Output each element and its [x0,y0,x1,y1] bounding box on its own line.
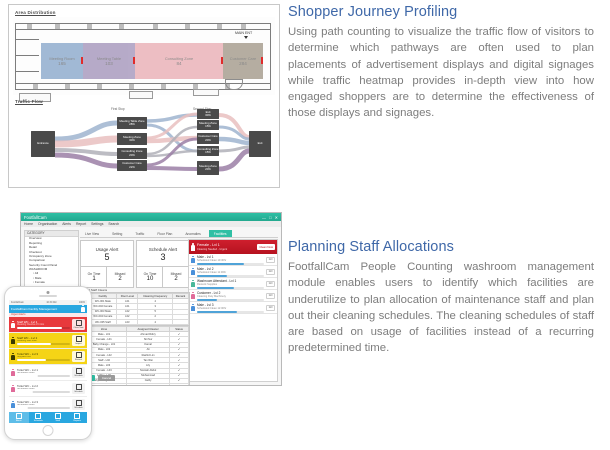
sankey-col-header-1: First Stop [111,107,125,111]
female-icon [11,321,15,329]
alert-sub: Scheduled Clean 12:00hr [197,307,264,310]
alert-progress [197,287,264,289]
kpi-schedule-missed: Missed 2 [162,266,190,288]
window-title: FootfallCam [24,215,47,220]
door-symbol [161,84,166,90]
main-entrance-label: MAIN ENT [235,31,252,35]
alert-progress [197,299,264,301]
female-icon [191,292,195,300]
phone-screen: FootfallCam 10:30 AM 100% FootfallCam Fa… [9,300,87,423]
sankey-node-pct: 15% [205,125,211,128]
male-icon [11,337,15,345]
door-symbol [55,24,60,30]
phone-row-sub: Cleaning Overdue 15 mins [17,324,70,326]
phone-row-0[interactable]: Staff WC - Lvl 1 Cleaning Overdue 15 min… [9,317,87,333]
calendar-icon [35,413,41,419]
wall-line [15,39,39,40]
sankey-node-s1-0[interactable]: Meeting Table Zone 28% [117,117,147,129]
alert-row-2[interactable]: Washroom Attendant - Lvl 1 Restock Suppl… [189,278,277,290]
phone-row-sub: Scheduled Clean [17,404,70,406]
alert-row-4[interactable]: Male - Lvl 3 Scheduled Clean 12:00hr GO [189,302,277,314]
sankey-node-entrance: Entrance [31,131,55,157]
phone-row-sub: Cleaning Due Soon [17,340,70,342]
phone-alert-list: Staff WC - Lvl 1 Cleaning Overdue 15 min… [9,317,87,413]
zone-1[interactable]: Meeting Table 103 [83,43,135,79]
door-symbol [185,24,190,30]
phone-row-action[interactable]: Clean Now [72,319,85,330]
phone-row-action[interactable]: Schedule [72,367,85,378]
male-icon [11,353,15,361]
female-icon [11,385,15,393]
cell-4-4 [173,319,189,324]
kpi-value: 5 [104,252,109,262]
speaker-grill [39,295,57,297]
bell-icon [16,413,22,419]
kpi-schedule-ontime: On Time 10 [136,266,164,288]
alert-action-button[interactable]: GO [266,305,275,311]
menu-item-3[interactable]: Report [76,222,86,226]
action-icon [76,384,82,390]
legend-box [129,91,153,99]
alert-progress [197,263,264,265]
male-icon [191,268,195,276]
cell-4-2: L03 [117,319,138,324]
zone-count: 284 [239,61,247,66]
alert-action-button[interactable]: GO [266,293,275,299]
tab-1[interactable]: Setting [107,230,127,237]
section-shopper-journey: Shopper Journey Profiling Using path cou… [288,3,594,122]
kpi-sub-value: 2 [118,276,121,283]
phone-row-5[interactable]: Toilet WC - Lvl 3 Scheduled Clean Schedu… [9,397,87,413]
sankey-node-exit: Exit [249,131,271,157]
female-icon [11,369,15,377]
phone-row-progress [17,327,70,329]
sankey-diagram: First Stop Second Stop Entrance Exit Mee… [13,105,275,183]
phone-row-progress [17,391,70,393]
phone-row-progress [17,407,70,409]
alert-progress [197,311,264,313]
status-carrier: FootfallCam [11,301,24,304]
sankey-node-s1-1[interactable]: Meeting Zone 30% [117,133,147,145]
people-icon [55,413,61,419]
table-usage[interactable]: IDFacilityFloor LevelCleaning FrequencyR… [80,292,190,326]
zone-2[interactable]: Consulting Zone 84 [135,43,223,79]
tab-5[interactable]: Facilities [209,230,232,237]
action-icon [76,352,82,358]
zone-0[interactable]: Meeting Room 165 [41,43,83,79]
kpi-sub-value: 1 [92,276,95,283]
menu-item-2[interactable]: Alerts [62,222,71,226]
traffic-flow-caption: Traffic Flow [15,99,43,104]
phone-mockup: FootfallCam 10:30 AM 100% FootfallCam Fa… [4,286,92,440]
phone-app-title: FootfallCam Facility Management [11,307,79,311]
female-icon [191,243,195,251]
cell-4-3: 4 [138,319,173,324]
sankey-node-s1-3[interactable]: Customer Care 22% [117,160,147,171]
male-icon [191,304,195,312]
camera-icon [47,291,50,294]
door-symbol [129,84,134,90]
door-symbol [27,24,32,30]
phone-row-2[interactable]: Toilet WC - Lvl 3 Supplies Low Restock [9,349,87,365]
alert-sub: Restock Supplies [197,283,264,286]
zone-count: 84 [176,61,181,66]
action-icon [76,320,82,326]
kpi-usage-ontime: On Time 1 [80,266,108,288]
phone-nav-0[interactable]: Alerts [9,412,29,423]
alert-sub: Scheduled Clean 11:00hr [197,271,264,274]
sankey-node-s2-1[interactable]: Meeting Zone 15% [197,120,219,130]
menu-item-5[interactable]: Search [108,222,119,226]
phone-row-action[interactable]: Inspect [72,335,85,346]
alert-panel-header: Female - Lvl 1 Cleaning Needed - Urgent … [189,240,277,254]
sankey-node-pct: 22% [129,166,135,169]
action-icon [76,336,82,342]
sankey-node-pct: 30% [205,114,211,117]
door-symbol [217,24,222,30]
tab-3[interactable]: Floor Plan [152,230,177,237]
male-icon [191,256,195,264]
phone-row-1[interactable]: Staff WC - Lvl 2 Cleaning Due Soon Inspe… [9,333,87,349]
window-controls[interactable]: — □ ✕ [262,215,279,220]
alert-row-1[interactable]: Male - Lvl 2 Scheduled Clean 11:00hr GO [189,266,277,278]
phone-row-progress [17,343,70,345]
sankey-node-s1-2[interactable]: Consulting Zone 20% [117,148,147,159]
menu-item-0[interactable]: Home [24,222,33,226]
phone-nav-1[interactable]: Schedule [29,412,49,423]
tab-2[interactable]: Traffic [130,230,149,237]
menu-item-1[interactable]: Organisation [38,222,57,226]
section-title: Planning Staff Allocations [288,238,594,256]
sankey-node-pct: 30% [129,139,135,142]
door-symbol [87,24,92,30]
phone-row-3[interactable]: Toilet WC - Lvl 1 Scheduled Clean Schedu… [9,365,87,381]
zone-3[interactable]: Customer Care 284 [223,43,263,79]
sankey-node-s2-4[interactable]: Meeting Zone 20% [197,161,219,175]
section-body: Using path counting to visualize the tra… [288,24,594,122]
kpi-usage-alert: Usage Alert 5 [80,240,134,268]
slide-root: Area Distribution [0,0,610,450]
phone-row-progress [17,375,70,377]
phone-appbar: FootfallCam Facility Management [9,305,87,313]
sankey-node-s2-0[interactable]: Exit 30% [197,109,219,119]
phone-row-action[interactable]: Restock [72,351,85,362]
phone-nav-3[interactable]: Reports [68,412,88,423]
tab-0[interactable]: Live View [80,230,104,237]
door-symbol [153,24,158,30]
tab-4[interactable]: Anomalies [180,230,205,237]
clean-now-button[interactable]: Clean Now [257,244,275,250]
phone-row-sub: Scheduled Clean [17,372,70,374]
door-symbol [241,24,246,30]
staff-icon [191,280,195,288]
zone-count: 165 [58,61,66,66]
home-button[interactable] [43,425,54,436]
kpi-schedule-alert: Schedule Alert 3 [136,240,190,268]
status-battery: 100% [79,301,85,304]
alert-panel: Female - Lvl 1 Cleaning Needed - Urgent … [188,239,278,382]
phone-top-bezel [5,287,91,300]
phone-nav-label: Reports [73,420,81,422]
phone-row-action[interactable]: Schedule [72,383,85,394]
wall-line [15,23,271,24]
section-planning-staff: Planning Staff Allocations FootfallCam P… [288,238,594,357]
section-title: Shopper Journey Profiling [288,3,594,21]
entrance-arrow-icon [244,36,248,39]
alert-row-3[interactable]: Customer - Lvl 2 Cleaning Duty Machinery… [189,290,277,302]
alert-row-0[interactable]: Male - Lvl 1 Scheduled Clean 10:30hr GO [189,254,277,266]
alert-action-button[interactable]: GO [266,281,275,287]
user-icon[interactable] [81,305,85,313]
kpi-sub-value: 10 [147,276,154,283]
floorplan-canvas: Meeting Room 165 Meeting Table 103 Consu… [13,17,275,95]
table-row[interactable]: Accessible - Lvl 1Hassan✔ [82,384,189,386]
phone-nav-2[interactable]: Staff [48,412,68,423]
zone-count: 103 [105,61,113,66]
cell-10-2: ✔ [170,384,189,386]
area-distribution-caption: Area Distribution [15,10,56,15]
kpi-sub-value: 2 [174,276,177,283]
sankey-node-pct: 28% [129,123,135,126]
alert-progress [197,275,264,277]
action-icon [76,400,82,406]
door-symbol [97,84,102,90]
sankey-node-pct: 20% [205,139,211,142]
phone-bottom-nav[interactable]: Alerts Schedule Staff Reports [9,412,87,423]
kpi-value: 3 [160,252,165,262]
wall-line [15,23,16,89]
phone-nav-label: Staff [56,420,60,422]
phone-row-action[interactable]: Schedule [72,399,85,410]
tabbar[interactable]: Live ViewSettingTrafficFloor PlanAnomali… [80,230,278,238]
door-symbol [33,84,38,90]
sankey-node-pct: 20% [129,154,135,157]
window-titlebar: FootfallCam — □ ✕ [21,213,281,221]
phone-row-progress [17,359,70,361]
sankey-node-s2-3[interactable]: Consulting Zone 15% [197,146,219,156]
wall-line [15,55,39,56]
sankey-node-pct: 20% [205,168,211,171]
sankey-node-label: Entrance [37,142,49,145]
action-icon [76,368,82,374]
phone-row-sub: Scheduled Clean [17,388,70,390]
status-time: 10:30 AM [46,301,56,304]
phone-row-sub: Supplies Low [17,356,70,358]
floorplan-screenshot: Area Distribution [8,4,280,188]
alert-row-list: Male - Lvl 1 Scheduled Clean 10:30hr GO … [189,254,277,314]
wall-line [270,23,271,89]
table-row[interactable]: 5WC-005 StaffL034 [82,319,189,324]
phone-nav-label: Alerts [16,420,22,422]
dashboard-button-1[interactable]: Cancel [98,375,115,381]
wall-line [15,71,39,72]
sankey-node-label: Exit [258,142,263,145]
male-icon [11,401,15,409]
alert-header-sub: Cleaning Needed - Urgent [197,248,255,251]
door-symbol [65,84,70,90]
cell-4-1: WC-005 Staff [89,319,117,324]
alert-action-button[interactable]: GO [266,257,275,263]
wall-line [15,29,271,30]
chart-icon [74,413,80,419]
door-symbol [119,24,124,30]
section-body: FootfallCam People Counting washroom man… [288,259,594,357]
kpi-usage-missed: Missed 2 [106,266,134,288]
alert-action-button[interactable]: GO [266,269,275,275]
zone-marker [261,57,263,64]
legend-box [193,89,219,96]
sankey-node-pct: 15% [205,151,211,154]
menu-item-4[interactable]: Settings [91,222,103,226]
alert-sub: Scheduled Clean 10:30hr [197,259,264,262]
alert-sub: Cleaning Duty Machinery [197,295,264,298]
phone-row-4[interactable]: Toilet WC - Lvl 2 Scheduled Clean Schedu… [9,381,87,397]
sankey-node-s2-2[interactable]: Customer Care 20% [197,133,219,144]
cell-10-1: Hassan [127,384,170,386]
phone-nav-label: Schedule [34,420,43,422]
